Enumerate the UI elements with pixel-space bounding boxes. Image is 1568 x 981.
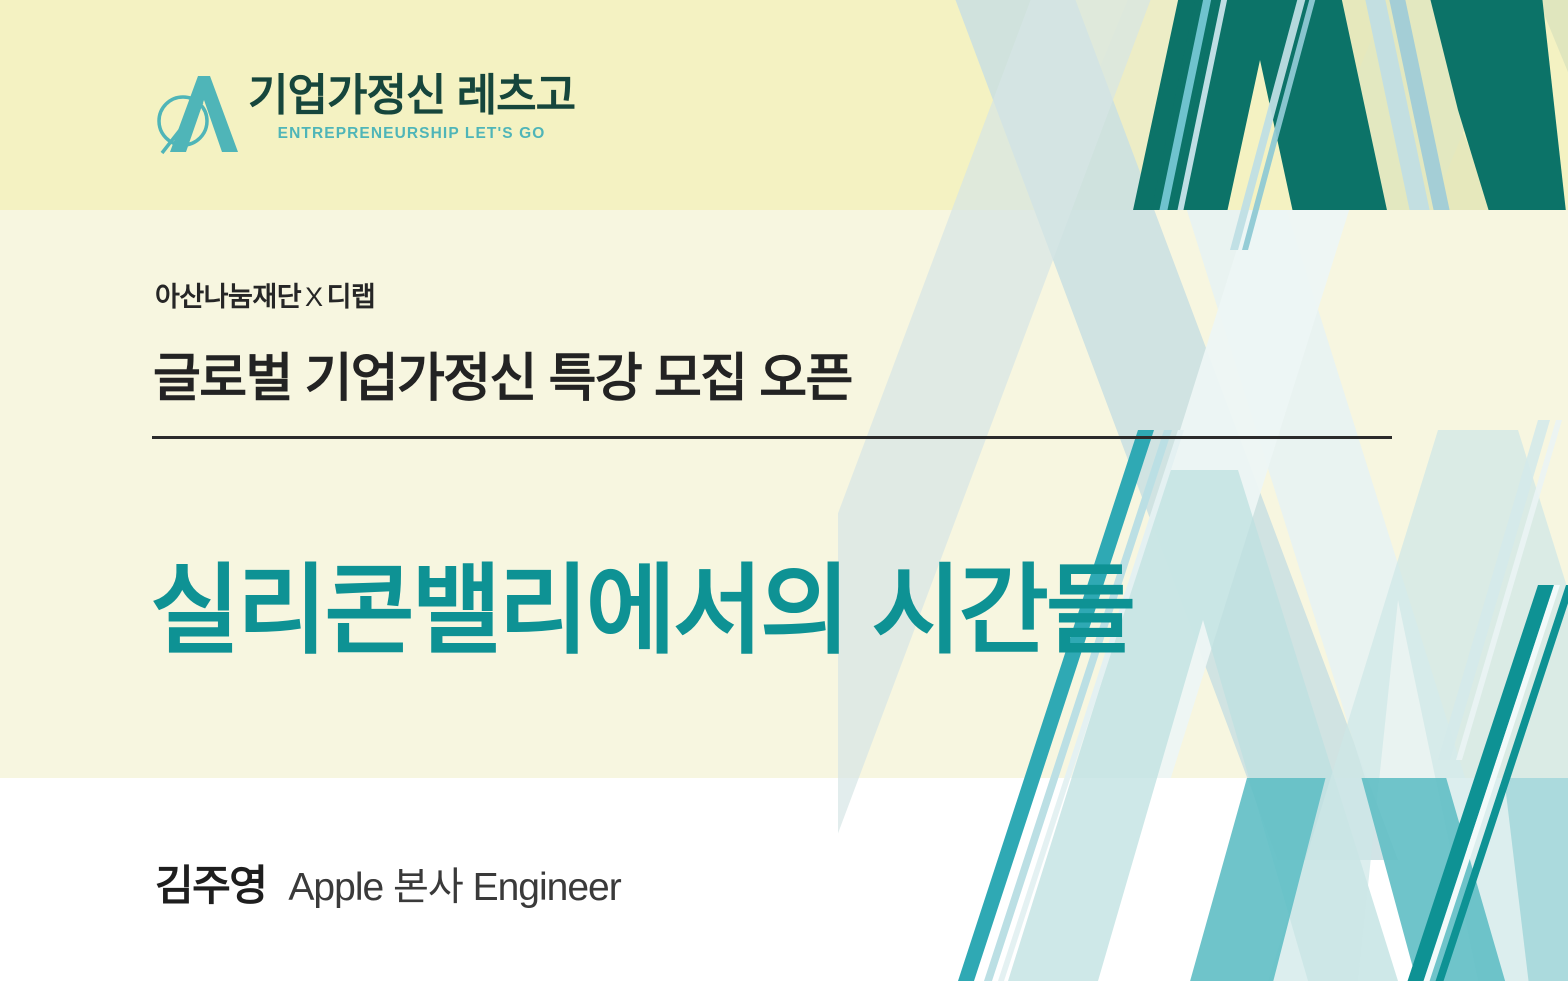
speaker-block: 김주영 Apple 본사 Engineer <box>155 852 621 913</box>
event-poster: 기업가정신 레츠고 ENTREPRENEURSHIP LET'S GO 아산나눔… <box>0 0 1568 981</box>
horizontal-divider <box>152 436 1392 439</box>
partner-separator-x: X <box>301 282 327 312</box>
logo-title: 기업가정신 레츠고 <box>248 72 575 120</box>
lecture-title: 실리콘밸리에서의 시간들 <box>150 531 1133 673</box>
speaker-name: 김주영 <box>155 852 266 913</box>
partner-left: 아산나눔재단 <box>155 282 301 312</box>
partners-eyebrow: 아산나눔재단X디랩 <box>155 275 375 314</box>
brand-logo: 기업가정신 레츠고 ENTREPRENEURSHIP LET'S GO <box>152 68 575 160</box>
a-monogram-icon <box>152 68 244 160</box>
speaker-role: Apple 본사 Engineer <box>288 856 620 912</box>
logo-subtitle: ENTREPRENEURSHIP LET'S GO <box>248 125 575 143</box>
partner-right: 디랩 <box>327 282 376 312</box>
headline: 글로벌 기업가정신 특강 모집 오픈 <box>153 336 852 411</box>
